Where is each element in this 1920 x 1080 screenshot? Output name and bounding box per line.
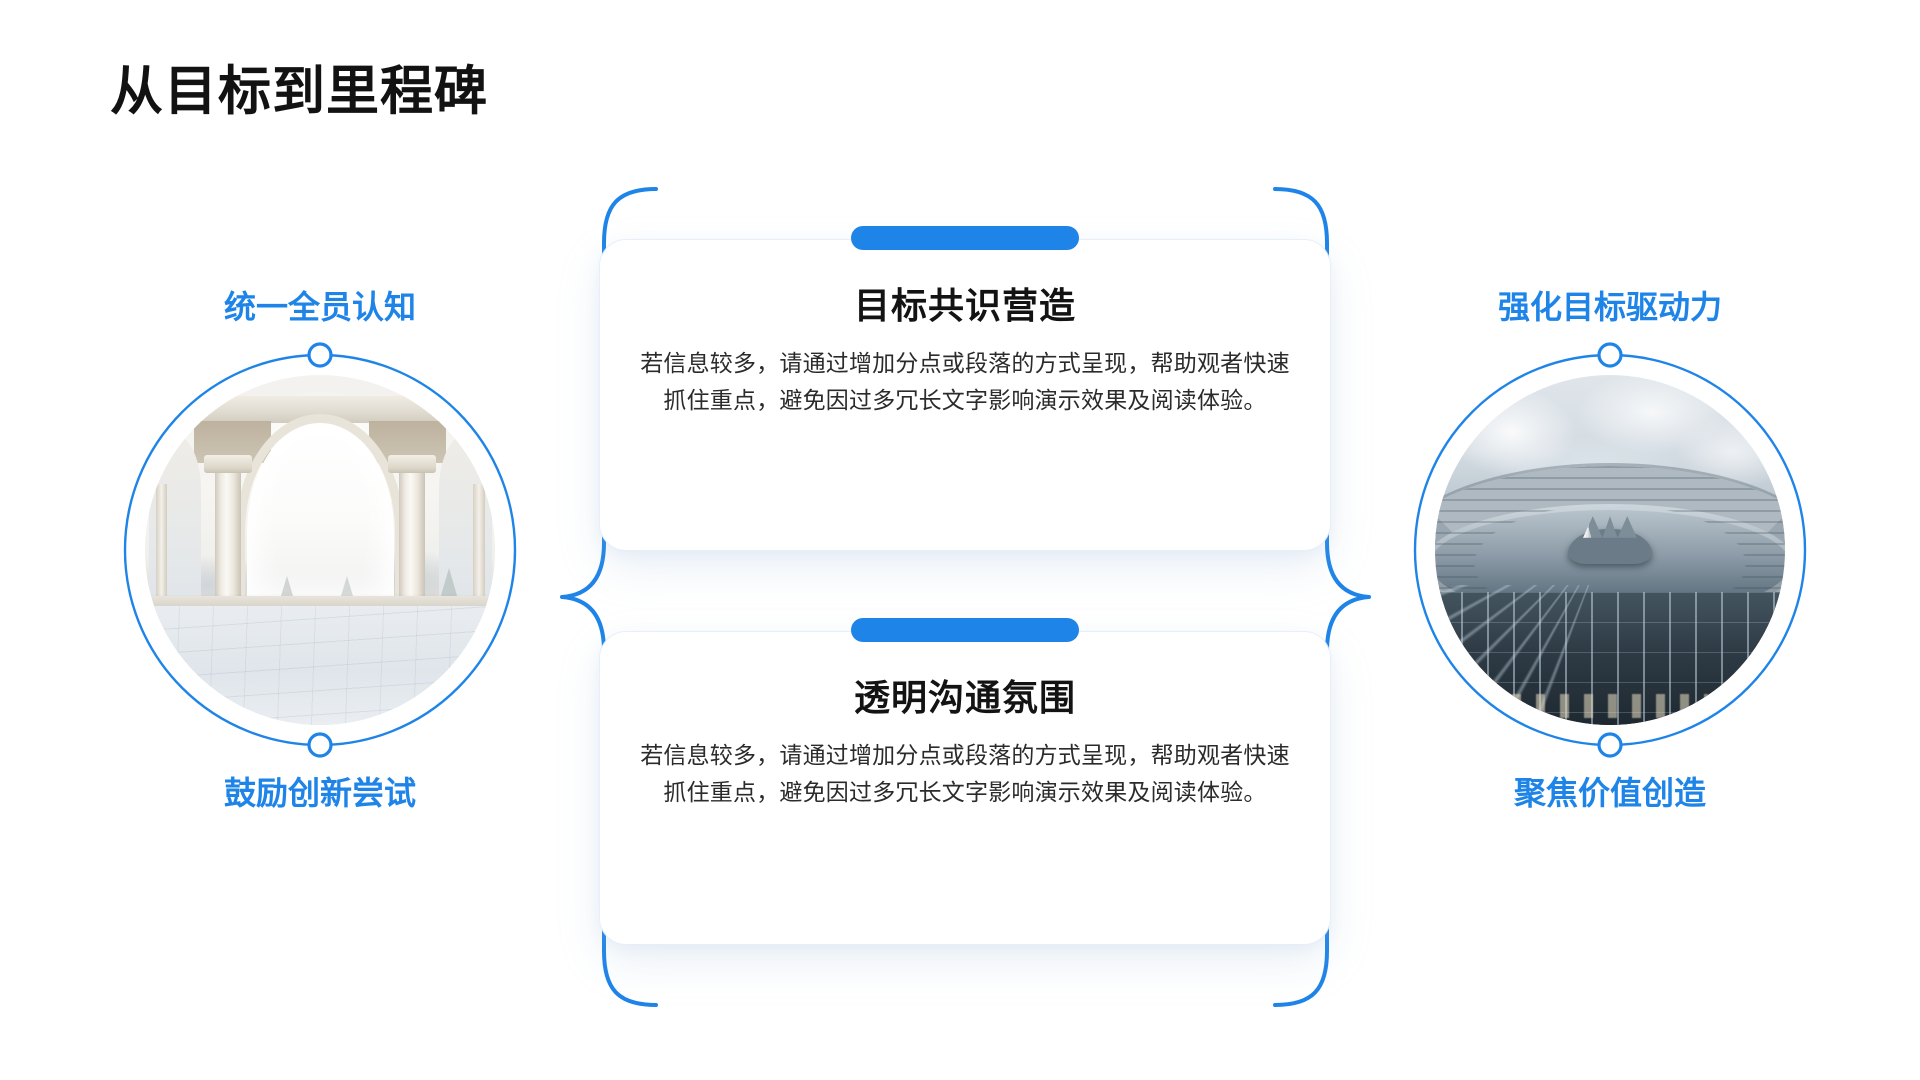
lit-windows	[1512, 694, 1708, 719]
card-body-text: 若信息较多，请通过增加分点或段落的方式呈现，帮助观者快速抓住重点，避免因过多冗长…	[635, 737, 1295, 812]
right-top-label: 强化目标驱动力	[1410, 288, 1810, 326]
right-photo-disc	[1435, 375, 1785, 725]
card-title: 目标共识营造	[600, 284, 1330, 327]
card-body-text: 若信息较多，请通过增加分点或段落的方式呈现，帮助观者快速抓住重点，避免因过多冗长…	[635, 345, 1295, 420]
right-circle-block	[1410, 350, 1810, 750]
pilaster-left	[156, 484, 168, 600]
classical-colonnade-image	[145, 375, 495, 725]
left-circle-block	[120, 350, 520, 750]
right-ring-node-bottom	[1599, 734, 1621, 756]
column-right	[399, 470, 425, 610]
right-circle-group: 强化目标驱动力 聚焦价值创造	[1410, 288, 1810, 813]
left-ring-node-bottom	[309, 734, 331, 756]
card-goal-consensus[interactable]: 目标共识营造 若信息较多，请通过增加分点或段落的方式呈现，帮助观者快速抓住重点，…	[600, 240, 1330, 550]
card-title: 透明沟通氛围	[600, 676, 1330, 719]
card-accent-bar	[851, 618, 1079, 642]
right-bottom-label: 聚焦价值创造	[1410, 774, 1810, 812]
page-title: 从目标到里程碑	[110, 62, 488, 123]
left-photo-disc	[145, 375, 495, 725]
left-bottom-label: 鼓励创新尝试	[120, 774, 520, 812]
right-ring-node-top	[1599, 344, 1621, 366]
circular-building-image	[1435, 375, 1785, 725]
card-accent-bar	[851, 226, 1079, 250]
left-ring-node-top	[309, 344, 331, 366]
pilaster-right	[473, 484, 485, 600]
left-top-label: 统一全员认知	[120, 288, 520, 326]
left-circle-group: 统一全员认知	[120, 288, 520, 813]
card-transparent-communication[interactable]: 透明沟通氛围 若信息较多，请通过增加分点或段落的方式呈现，帮助观者快速抓住重点，…	[600, 632, 1330, 944]
column-left	[215, 470, 241, 610]
tiled-floor	[145, 606, 495, 725]
